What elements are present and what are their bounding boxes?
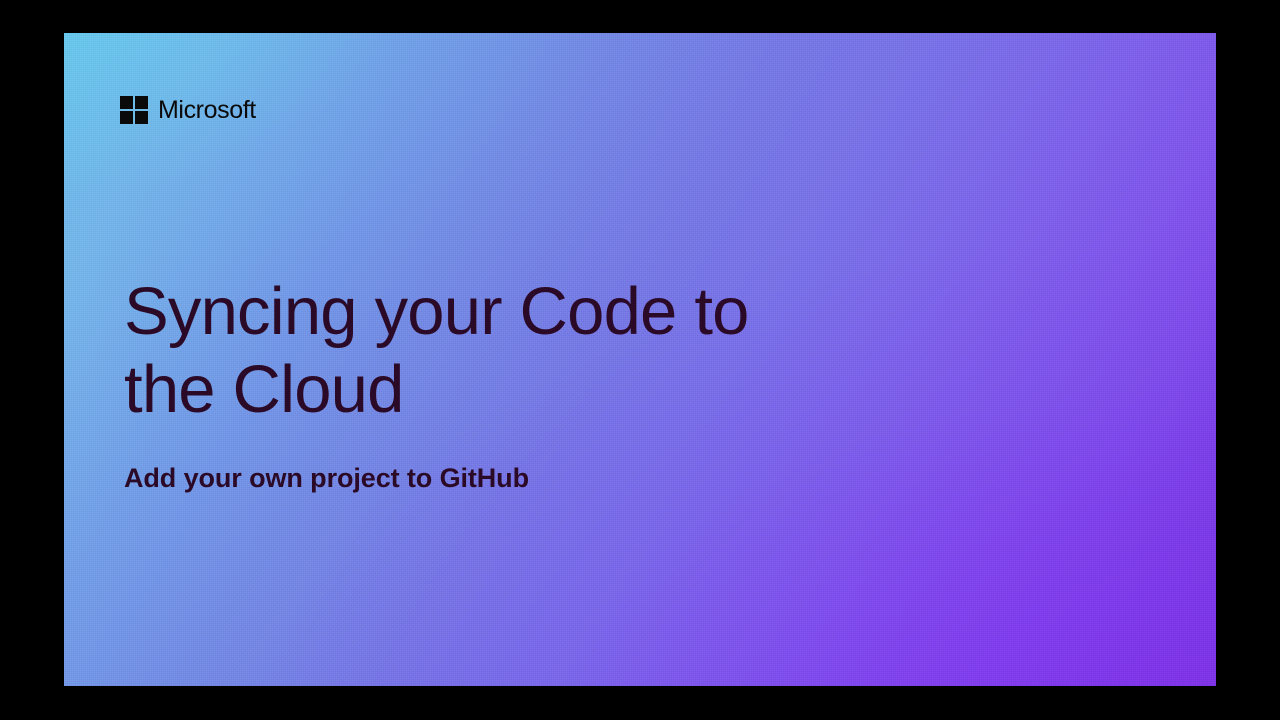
microsoft-logo-square-top-left bbox=[120, 96, 133, 109]
page-title: Syncing your Code to the Cloud bbox=[124, 273, 824, 429]
video-letterbox-frame: Microsoft Syncing your Code to the Cloud… bbox=[0, 0, 1280, 720]
slide-subtitle: Add your own project to GitHub bbox=[124, 429, 824, 495]
microsoft-logo-lockup: Microsoft bbox=[120, 96, 256, 124]
microsoft-logo-icon bbox=[120, 96, 148, 124]
microsoft-wordmark: Microsoft bbox=[158, 98, 256, 123]
presentation-slide: Microsoft Syncing your Code to the Cloud… bbox=[64, 33, 1216, 686]
slide-title-block: Syncing your Code to the Cloud Add your … bbox=[124, 273, 824, 495]
microsoft-logo-square-top-right bbox=[135, 96, 148, 109]
microsoft-logo-square-bottom-right bbox=[135, 111, 148, 124]
microsoft-logo-square-bottom-left bbox=[120, 111, 133, 124]
